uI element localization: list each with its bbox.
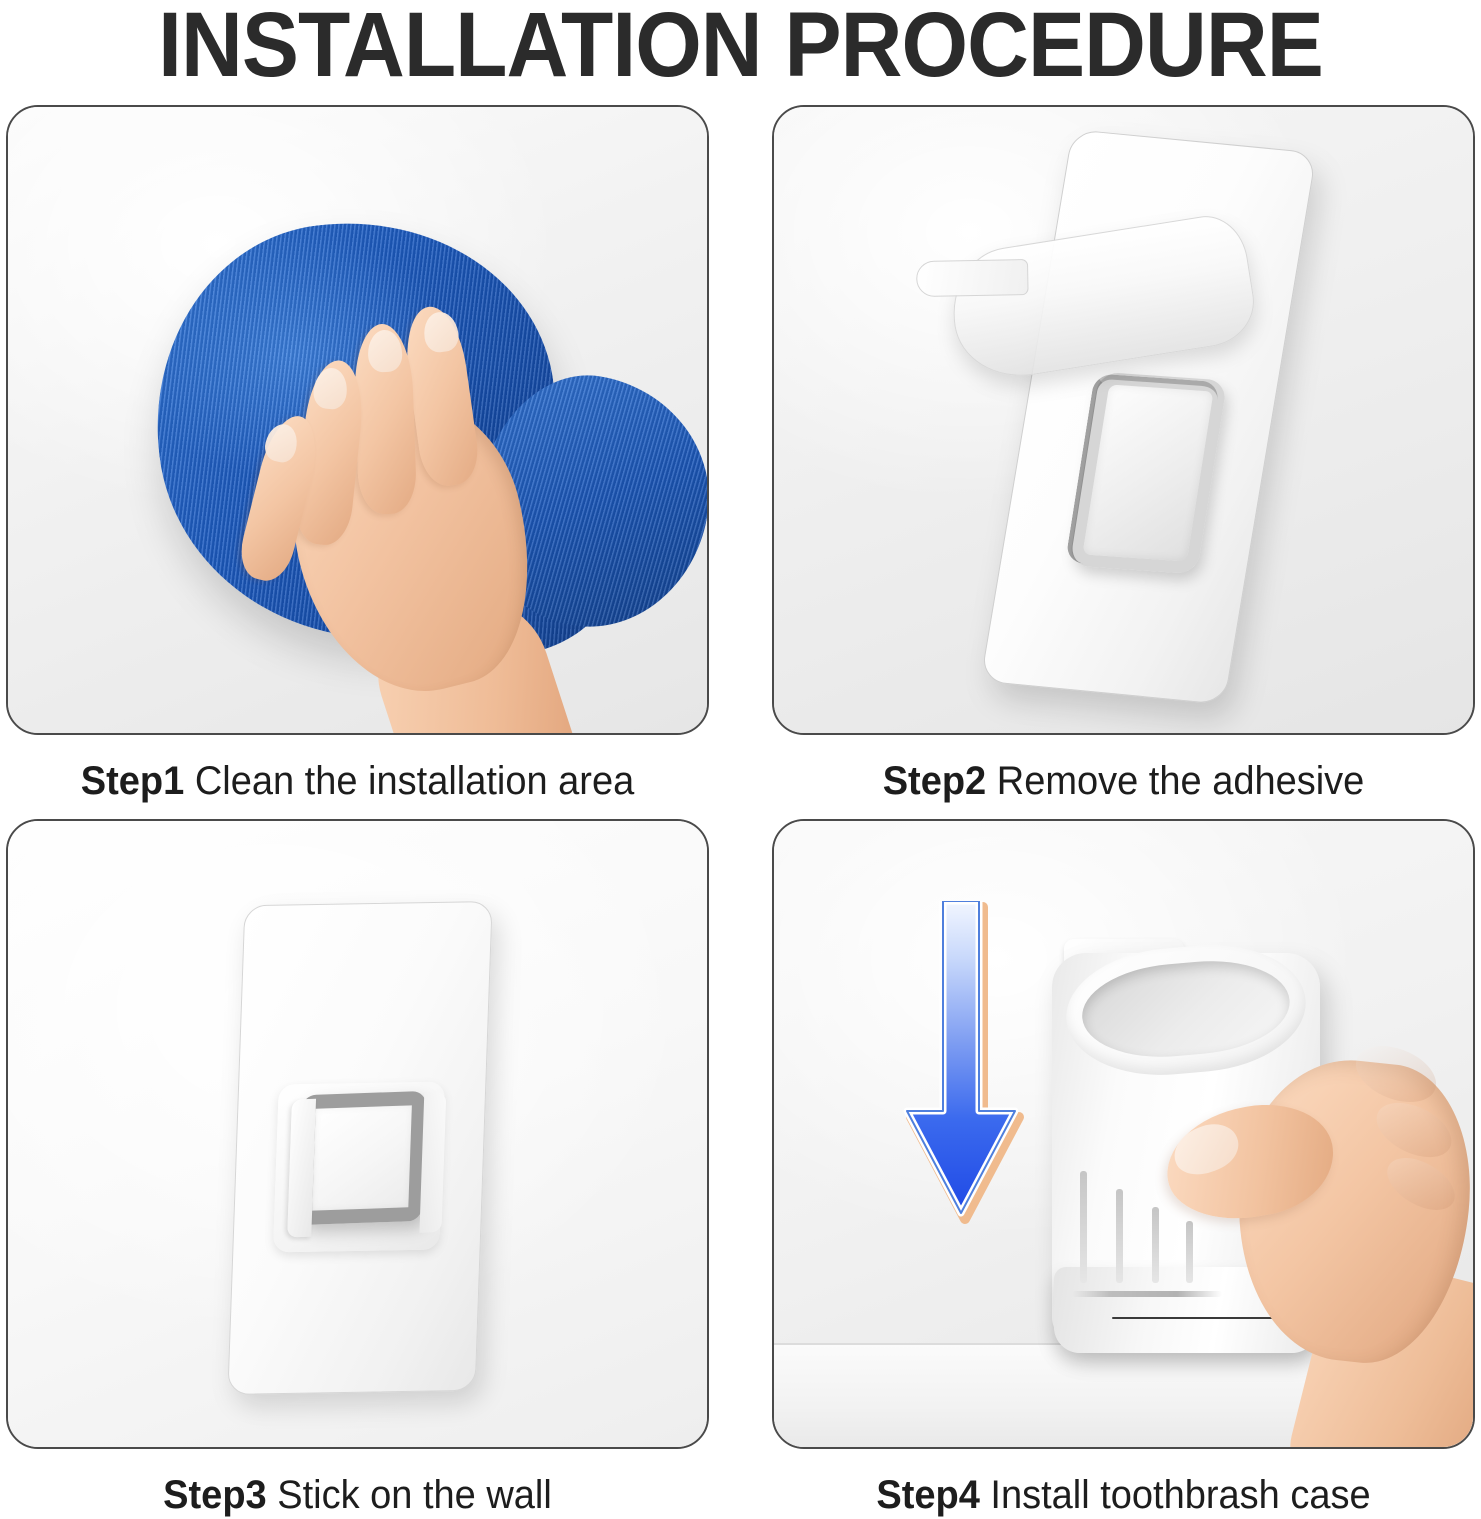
hand-wiping (246, 272, 546, 735)
page-title: INSTALLATION PROCEDURE (52, 0, 1429, 88)
step-1-image-panel (6, 105, 709, 735)
step-1-description: Clean the installation area (195, 759, 634, 803)
step-3-image-panel (6, 819, 709, 1449)
downward-arrow-icon (896, 901, 1026, 1261)
step-3-caption: Step3 Stick on the wall (24, 1471, 692, 1519)
step-cell-3: Step3 Stick on the wall (6, 819, 709, 1519)
step-4-label: Step4 (876, 1473, 979, 1517)
slot-1 (1080, 1171, 1087, 1283)
step-2-description: Remove the adhesive (997, 759, 1365, 803)
step-1-label: Step1 (81, 759, 184, 803)
step-cell-1: Step1 Clean the installation area (6, 105, 709, 805)
slot-2 (1116, 1189, 1123, 1283)
square-mount-bracket (298, 1091, 427, 1225)
step-3-label: Step3 (163, 1473, 266, 1517)
thumbnail (1167, 1116, 1245, 1183)
steps-grid: Step1 Clean the installation area Step2 … (6, 105, 1475, 1519)
step-2-label: Step2 (883, 759, 986, 803)
step-2-image-panel (772, 105, 1475, 735)
slot-3 (1152, 1207, 1159, 1283)
hand-holding-cup (1178, 1021, 1475, 1449)
step-cell-2: Step2 Remove the adhesive (772, 105, 1475, 805)
step-4-caption: Step4 Install toothbrash case (790, 1471, 1458, 1519)
step-3-description: Stick on the wall (277, 1473, 552, 1517)
step-2-caption: Step2 Remove the adhesive (790, 757, 1458, 805)
step-4-image-panel (772, 819, 1475, 1449)
step-4-description: Install toothbrash case (990, 1473, 1370, 1517)
step-cell-4: Step4 Install toothbrash case (772, 819, 1475, 1519)
step-1-caption: Step1 Clean the installation area (24, 757, 692, 805)
